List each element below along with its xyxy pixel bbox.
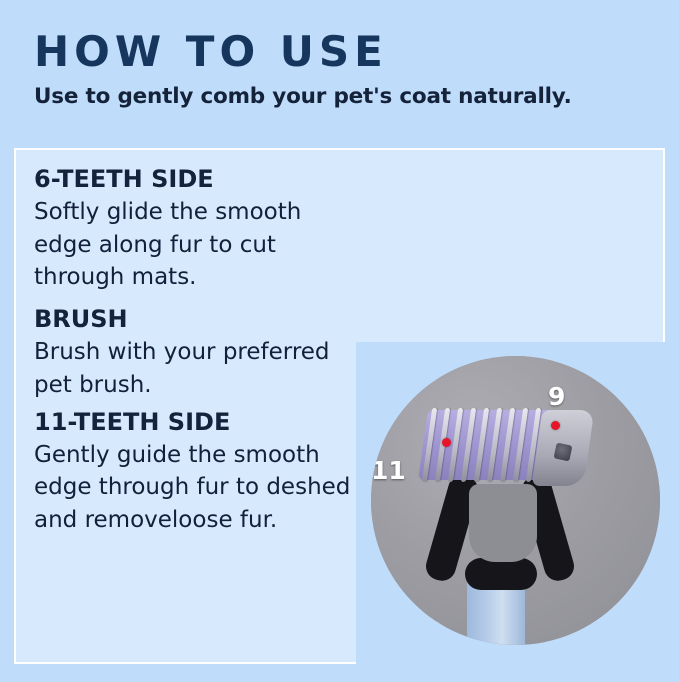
callout-label-9: 9 — [548, 382, 565, 411]
section-11-teeth-side: 11-TEETH SIDE Gently guide the smooth ed… — [34, 407, 364, 536]
callout-dot-right — [551, 421, 560, 430]
section-6-teeth-side: 6-TEETH SIDE Softly glide the smooth edg… — [34, 164, 364, 294]
product-photo: 11 9 — [371, 356, 660, 645]
instructions-text-column: 6-TEETH SIDE Softly glide the smooth edg… — [34, 164, 364, 546]
header: HOW TO USE Use to gently comb your pet's… — [34, 30, 654, 109]
section-heading: BRUSH — [34, 304, 364, 334]
section-body: Brush with your preferred pet brush. — [34, 336, 364, 401]
page-subtitle: Use to gently comb your pet's coat natur… — [34, 84, 654, 109]
callout-dot-left — [442, 438, 451, 447]
blade-screw-icon — [554, 443, 573, 462]
page-root: HOW TO USE Use to gently comb your pet's… — [0, 0, 679, 679]
tool-blade-head — [417, 404, 592, 496]
page-title: HOW TO USE — [34, 30, 654, 74]
section-body: Gently guide the smooth edge through fur… — [34, 439, 364, 536]
section-brush: BRUSH Brush with your preferred pet brus… — [34, 304, 364, 401]
yoke-arm-bottom — [465, 558, 537, 590]
section-body: Softly glide the smooth edge along fur t… — [34, 196, 364, 294]
section-heading: 11-TEETH SIDE — [34, 407, 364, 437]
section-heading: 6-TEETH SIDE — [34, 164, 364, 194]
callout-label-11: 11 — [371, 456, 406, 485]
